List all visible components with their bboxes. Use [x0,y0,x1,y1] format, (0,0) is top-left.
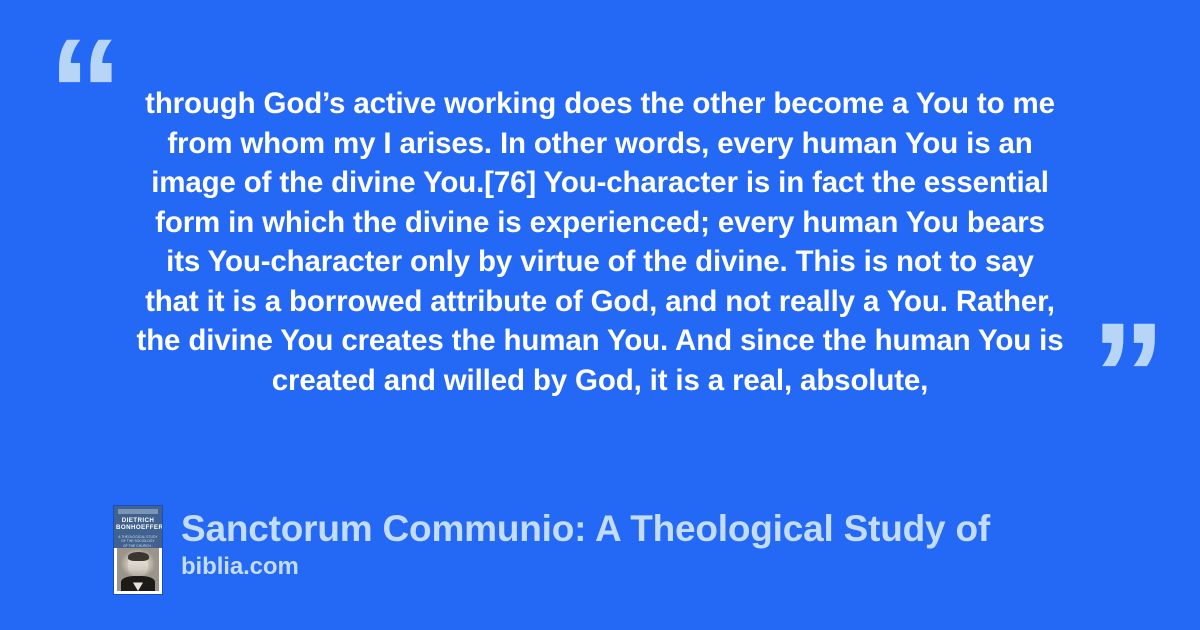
site-name[interactable]: biblia.com [181,553,990,581]
book-cover-author: DIETRICH BONHOEFFER [116,517,160,531]
quote-block: through God’s active working does the ot… [100,84,1100,400]
closing-quote-mark: ” [1091,300,1164,450]
footer-text-group: Sanctorum Communio: A Theological Study … [181,505,990,581]
attribution-footer: DIETRICH BONHOEFFER A THEOLOGICAL STUDY … [113,505,1200,595]
book-cover-thumbnail[interactable]: DIETRICH BONHOEFFER A THEOLOGICAL STUDY … [113,505,163,595]
author-portrait-photo [117,548,159,591]
book-cover-kicker-bar [118,509,158,514]
portrait-hair [128,552,149,561]
quote-card: “ through God’s active working does the … [0,0,1200,630]
book-title[interactable]: Sanctorum Communio: A Theological Study … [181,507,990,551]
quote-text: through God’s active working does the ot… [100,84,1100,400]
